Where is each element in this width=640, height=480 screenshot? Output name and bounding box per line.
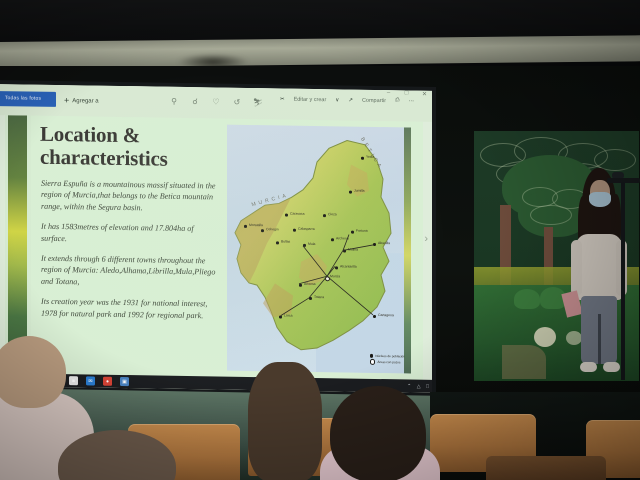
rotate-icon[interactable]: ↺ <box>232 98 242 108</box>
photos-active-icon[interactable]: ▣ <box>120 377 129 386</box>
store-icon[interactable]: ■ <box>69 376 78 385</box>
more-icon[interactable]: ⋯ <box>409 98 415 104</box>
murcia-region-map: MURCIA BETICA YeclaJumillaCaravacaCiezaC… <box>227 125 411 374</box>
all-photos-button[interactable]: Todas las fotos <box>0 91 56 107</box>
page-title: Location & characteristics <box>40 123 220 172</box>
delete-icon[interactable]: ☌ <box>190 97 200 107</box>
hollow-dot-icon <box>370 359 375 364</box>
map-legend: Núcleos de población Áreas con pozos <box>370 353 405 366</box>
photo-scene: Todas las fotos +Agregar a ⚲ ☌ ♡ ↺ ⛷ ✂ E… <box>0 0 640 480</box>
map-city-points: YeclaJumillaCaravacaCiezaCeheginCalaspar… <box>227 125 411 128</box>
slide-left-photo-strip <box>8 115 27 373</box>
slide-paragraph-1: Sierra Espuña is a mountainous massif si… <box>41 178 221 215</box>
minimize-button[interactable]: – <box>384 90 393 97</box>
audience-head <box>0 336 66 408</box>
close-button[interactable]: ✕ <box>420 91 429 98</box>
system-tray[interactable]: ⌃ △ □ <box>407 383 431 389</box>
map-right-photo-strip <box>404 127 411 373</box>
slide-image[interactable]: Location & characteristics Sierra Espuña… <box>5 115 423 380</box>
photos-app-window: Todas las fotos +Agregar a ⚲ ☌ ♡ ↺ ⛷ ✂ E… <box>0 84 432 393</box>
slide-body: Sierra Espuña is a mountainous massif si… <box>41 178 221 331</box>
slide-paragraph-4: Its creation year was the 1931 for natio… <box>41 296 221 322</box>
face-mask <box>589 192 611 207</box>
next-photo-arrow[interactable]: › <box>424 233 428 245</box>
edit-create-label[interactable]: Editar y crear <box>294 96 327 103</box>
seat <box>486 456 606 480</box>
chevron-down-icon[interactable]: ∨ <box>335 97 339 103</box>
map-roads <box>231 133 407 364</box>
ceiling-beam <box>0 35 640 68</box>
crop-icon[interactable]: ⛷ <box>253 98 263 108</box>
add-to-button[interactable]: +Agregar a <box>64 93 99 108</box>
zoom-icon[interactable]: ⚲ <box>169 97 179 107</box>
add-to-label: Agregar a <box>72 98 98 104</box>
slide-paragraph-2: It has 1583metres of elevation and 17.80… <box>41 221 221 247</box>
share-icon: ↗ <box>348 97 353 103</box>
microphone-stand <box>621 182 625 380</box>
slide-paragraph-3: It extends through 6 different towns thr… <box>41 253 221 290</box>
favorite-heart-icon[interactable]: ♡ <box>211 97 221 107</box>
maximize-button[interactable]: □ <box>402 90 411 97</box>
plus-icon: + <box>64 95 69 105</box>
legend-row: Áreas con pozos <box>370 359 405 366</box>
legend-label: Áreas con pozos <box>377 359 400 365</box>
edit-create-icon: ✂ <box>280 96 285 102</box>
chrome-icon[interactable]: ● <box>103 377 112 386</box>
window-controls: – □ ✕ <box>384 90 429 98</box>
audience-head <box>330 386 426 480</box>
print-icon[interactable]: ⎙ <box>395 97 399 104</box>
slide-content: Location & characteristics Sierra Espuña… <box>31 116 423 380</box>
mail-icon[interactable]: ✉ <box>86 376 95 385</box>
audience-head <box>248 362 322 480</box>
share-label[interactable]: Compartir <box>362 97 386 103</box>
projection-screen: Todas las fotos +Agregar a ⚲ ☌ ♡ ↺ ⛷ ✂ E… <box>0 84 432 393</box>
filled-dot-icon <box>370 354 373 357</box>
